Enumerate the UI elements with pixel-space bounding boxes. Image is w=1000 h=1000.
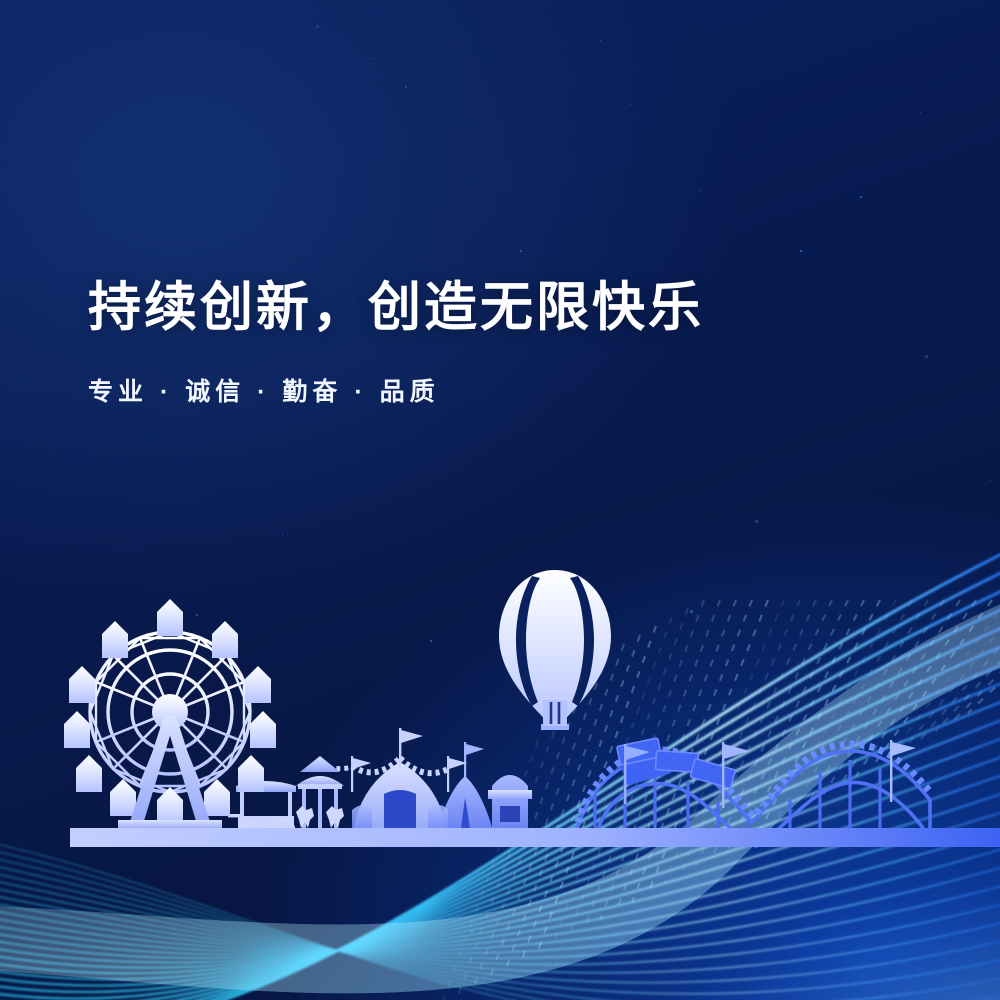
page-subtitle: 专业 · 诚信 · 勤奋 · 品质 bbox=[88, 372, 440, 408]
ground-strip bbox=[70, 828, 1000, 847]
page-title: 持续创新，创造无限快乐 bbox=[88, 265, 704, 341]
big-top-tent bbox=[332, 728, 467, 838]
amusement-park-silhouette bbox=[0, 0, 1000, 1000]
small-tent-flag bbox=[464, 742, 484, 778]
ferris-wheel bbox=[64, 599, 276, 840]
hot-air-balloon bbox=[499, 570, 611, 730]
banner-canvas: 持续创新，创造无限快乐 专业 · 诚信 · 勤奋 · 品质 bbox=[0, 0, 1000, 1000]
